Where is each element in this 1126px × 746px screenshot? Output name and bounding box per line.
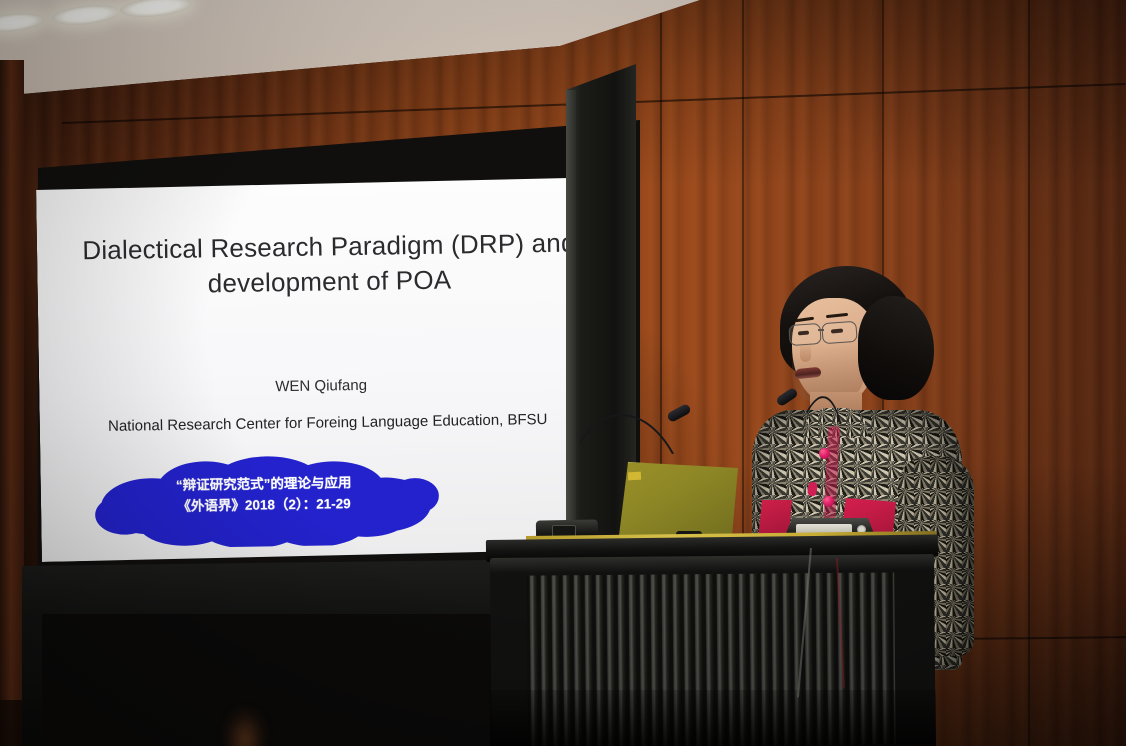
speaker-hair-side <box>858 296 934 400</box>
left-wall-edge <box>0 60 24 700</box>
slide-citation-text: “辩证研究范式”的理论与应用 《外语界》2018（2）：21-29 <box>89 472 440 519</box>
projection-screen: Dialectical Research Paradigm (DRP) and … <box>36 177 626 562</box>
below-screen-shadow <box>42 614 522 746</box>
slide-title: Dialectical Research Paradigm (DRP) and … <box>69 225 590 303</box>
podium-floor-shadow <box>490 690 936 746</box>
wall-seam-vertical <box>1028 0 1030 746</box>
slide-affiliation: National Research Center for Foreing Lan… <box>50 410 606 436</box>
audience-silhouette <box>222 706 268 746</box>
slide-author: WEN Qiufang <box>71 374 571 399</box>
slide-citation-callout: “辩证研究范式”的理论与应用 《外语界》2018（2）：21-29 <box>88 452 439 549</box>
podium-rim <box>490 554 934 574</box>
glasses-bridge-icon <box>818 329 824 331</box>
slide-content: Dialectical Research Paradigm (DRP) and … <box>36 177 626 562</box>
speaker-nose <box>800 342 811 362</box>
presentation-photo: Dialectical Research Paradigm (DRP) and … <box>0 0 1126 746</box>
